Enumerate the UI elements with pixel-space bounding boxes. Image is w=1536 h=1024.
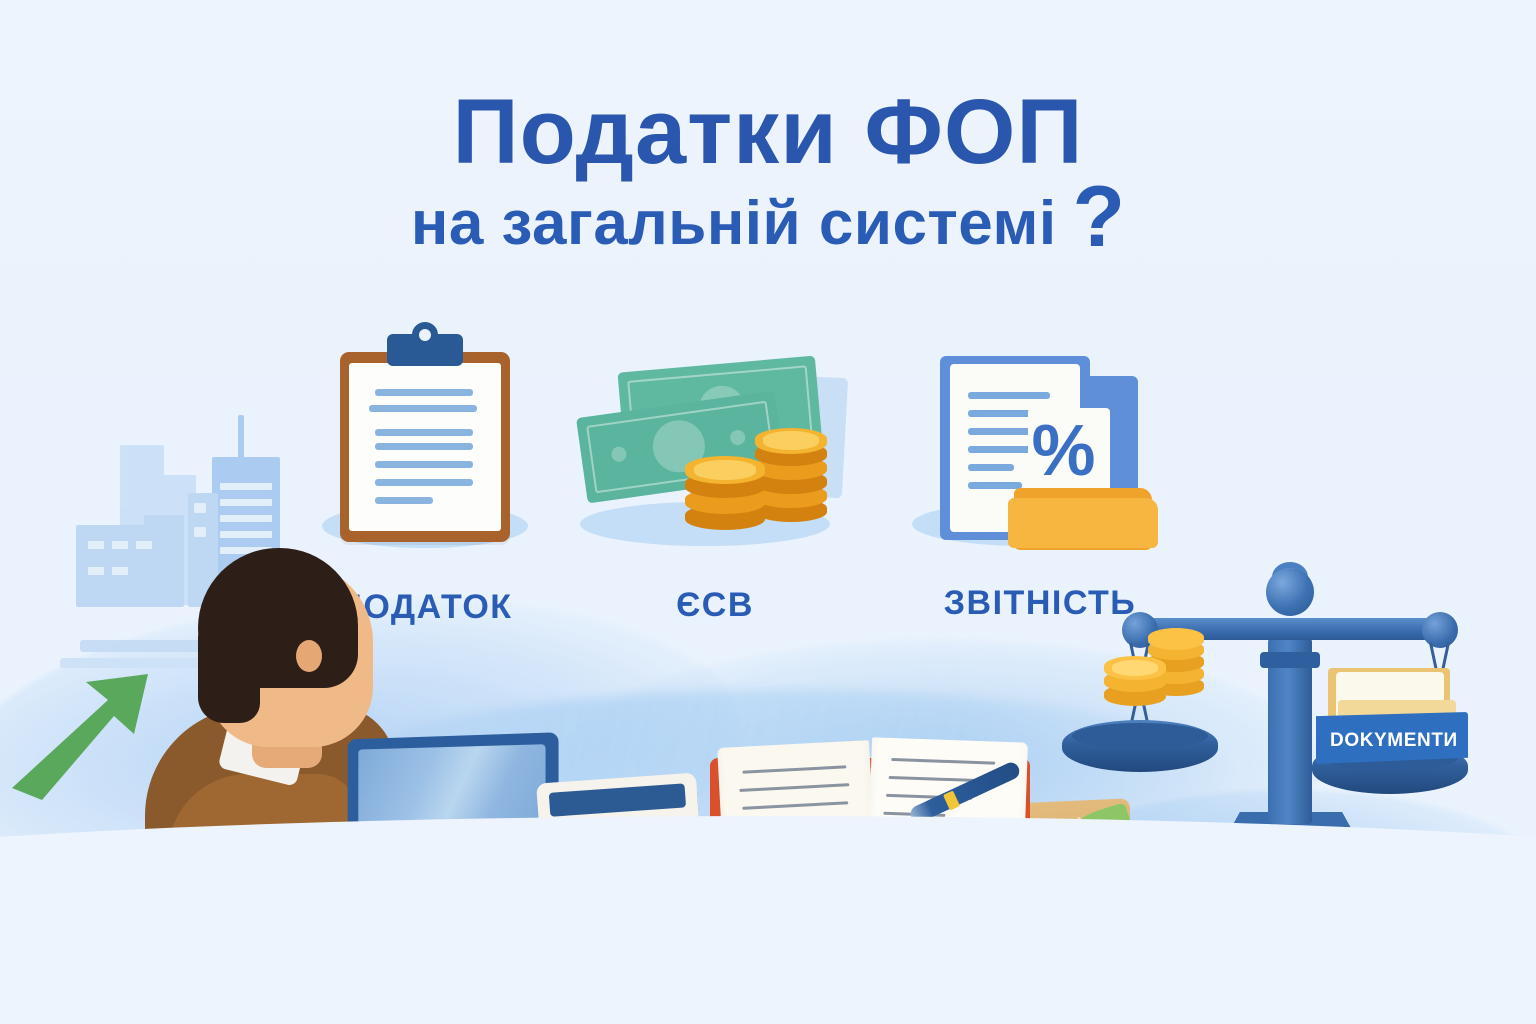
documents-percent-icon: % [918, 352, 1163, 542]
poster-canvas: Податки ФОП на загальній системі ? ПОДАТ… [0, 0, 1536, 1024]
percent-symbol: % [1032, 410, 1096, 492]
header-block: Податки ФОП на загальній системі ? [0, 86, 1536, 259]
icon-label-esv: ЄСВ [570, 586, 860, 625]
money-coins-icon [575, 352, 855, 542]
page-subtitle: на загальній системі [411, 188, 1057, 259]
question-mark: ? [1073, 182, 1126, 253]
floor [0, 864, 1536, 1024]
page-title: Податки ФОП [0, 86, 1536, 180]
documents-sign-label: DOKYMENTИ [1330, 730, 1458, 752]
clipboard-icon [340, 352, 510, 542]
icon-block-esv: ЄСВ [570, 352, 860, 625]
